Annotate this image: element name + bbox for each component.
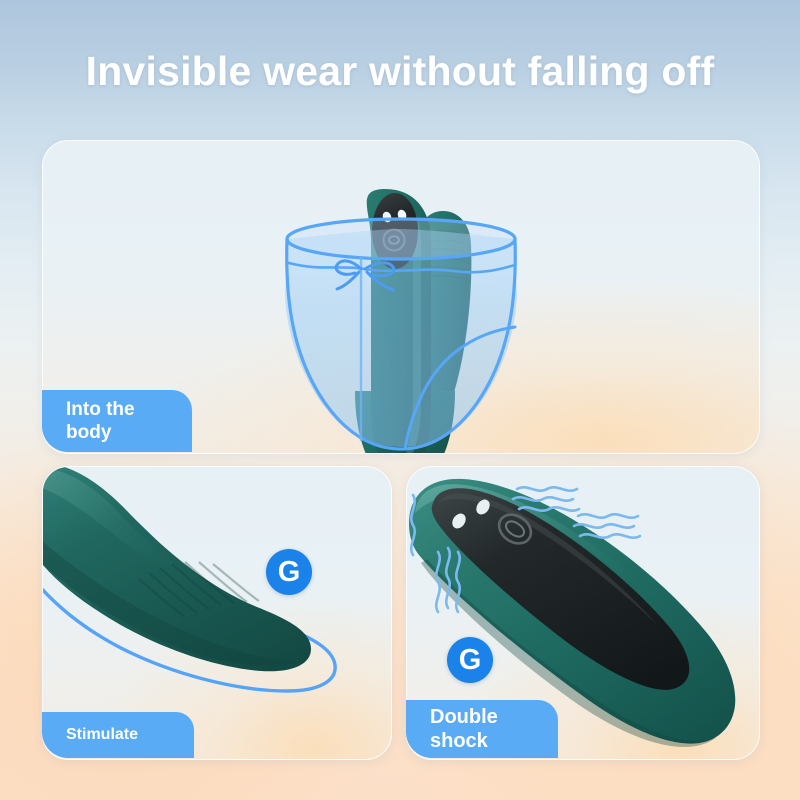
page-title: Invisible wear without falling off (0, 45, 800, 97)
product-feature-poster: Invisible wear without falling off (0, 0, 800, 800)
badge-double-shock[interactable]: Double shock (406, 700, 558, 758)
badge-line-2: shock (430, 729, 558, 753)
g-marker-label: G (459, 644, 482, 677)
underwear-illustration (285, 219, 517, 449)
g-marker-label: G (278, 556, 301, 589)
badge-line-1: Stimulate (66, 725, 194, 745)
badge-line-2: body (66, 421, 192, 444)
badge-into-the-body[interactable]: Into the body (42, 390, 192, 452)
badge-stimulate[interactable]: Stimulate (42, 712, 194, 758)
g-spot-marker-right[interactable]: G (447, 637, 493, 683)
g-spot-marker-left[interactable]: G (266, 549, 312, 595)
badge-line-1: Double (430, 705, 558, 729)
badge-line-1: Into the (66, 398, 192, 421)
